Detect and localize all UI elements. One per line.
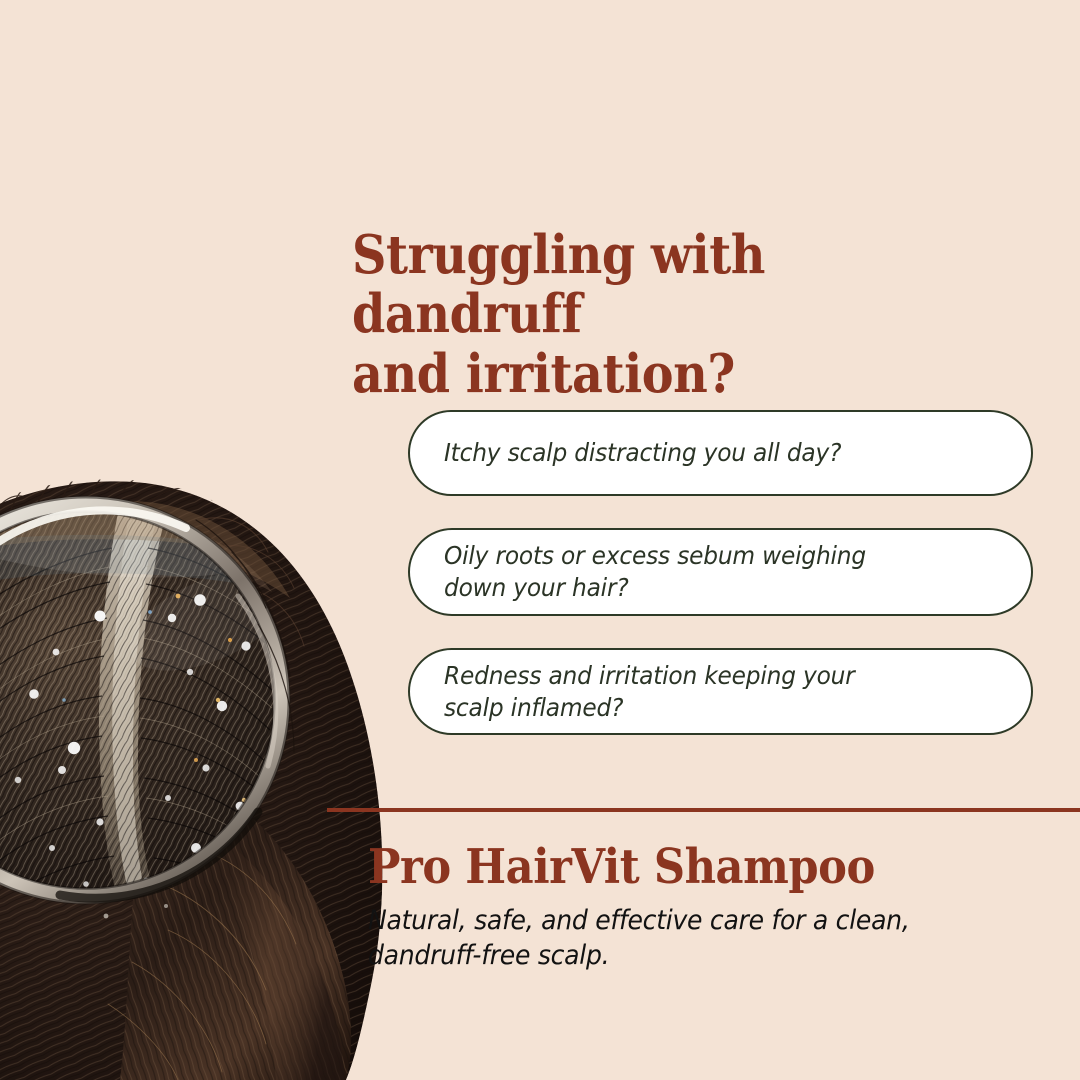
pain-point-item-3[interactable]: Redness and irritation keeping your scal… [408,648,1033,736]
pain-point-label: Itchy scalp distracting you all day? [444,437,841,469]
pain-point-item-1[interactable]: Itchy scalp distracting you all day? [408,410,1033,496]
pain-point-label: Oily roots or excess sebum weighing down… [444,540,866,604]
pain-point-label: Redness and irritation keeping your scal… [444,660,855,724]
scalp-dandruff-magnifier-photo [0,0,420,1080]
pain-point-list: Itchy scalp distracting you all day? Oil… [408,410,1033,767]
product-block: Pro HairVit Shampoo Natural, safe, and e… [368,842,1068,973]
pain-point-item-2[interactable]: Oily roots or excess sebum weighing down… [408,528,1033,616]
promo-poster: Struggling with dandruff and irritation?… [0,0,1080,1080]
product-tagline: Natural, safe, and effective care for a … [368,904,1019,973]
section-divider [327,808,1080,812]
page-title: Struggling with dandruff and irritation? [352,226,982,404]
product-name: Pro HairVit Shampoo [368,842,998,892]
